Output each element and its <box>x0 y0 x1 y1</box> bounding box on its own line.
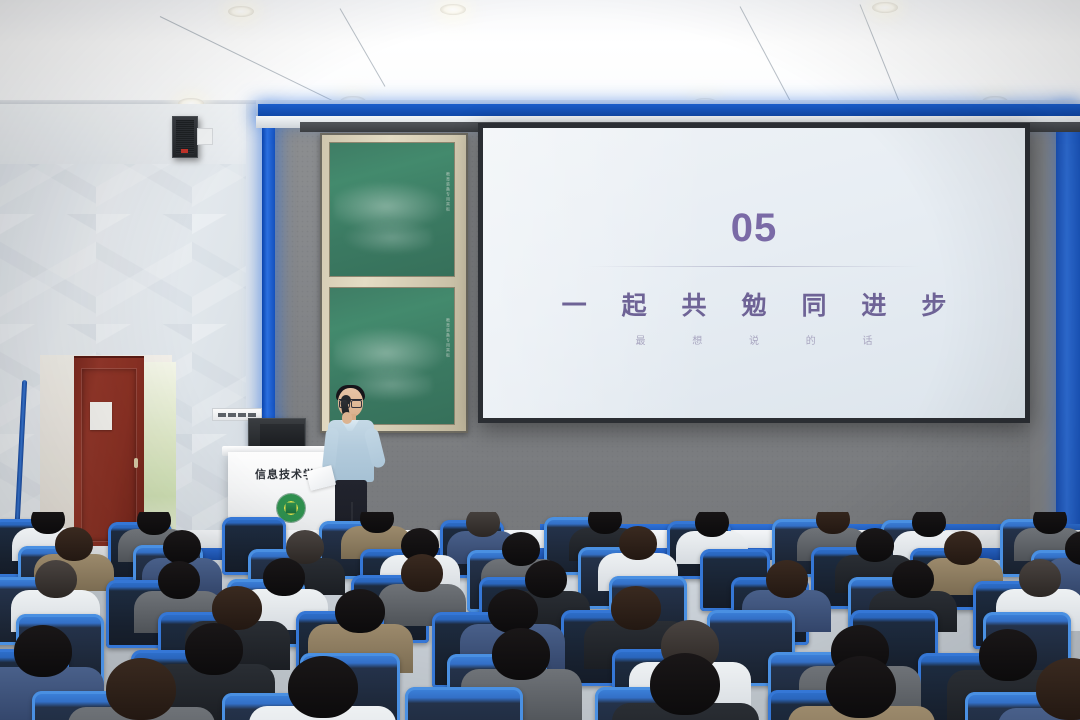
audience-member-head <box>619 526 657 560</box>
chalkboard-edge-text: 教育装备专用黑板 <box>445 172 451 212</box>
right-led-strip <box>1056 104 1080 554</box>
audience-member-head <box>401 554 443 592</box>
audience-member-head <box>488 589 538 633</box>
audience-member-head <box>158 561 200 599</box>
audience-member-head <box>288 656 358 718</box>
audience-member-head <box>466 512 500 537</box>
slide-title: 一 起 共 勉 同 进 步 <box>483 286 1025 322</box>
audience-member-head <box>588 512 622 534</box>
chalk-smudge <box>342 220 431 255</box>
audience-member-head <box>611 586 661 630</box>
audience-member-head <box>856 528 894 562</box>
slide-number: 05 <box>483 206 1025 251</box>
audience-seat <box>405 687 523 720</box>
audience-member-head <box>1019 559 1061 597</box>
ceiling-seam <box>340 8 386 86</box>
audience-member-head <box>185 623 243 675</box>
audience-member-head <box>525 560 567 598</box>
door-sign <box>90 402 112 430</box>
door-handle[interactable] <box>134 458 138 468</box>
ceiling-cove-led <box>258 104 1080 116</box>
ceiling-seam <box>160 16 340 105</box>
ceiling-downlight <box>228 6 254 17</box>
audience-member-head <box>892 560 934 598</box>
switch-key[interactable] <box>238 413 246 417</box>
audience-member-head <box>106 658 176 720</box>
lecture-hall-photo: 教育装备专用黑板 教育装备专用黑板 05 一 起 共 勉 同 进 步 最 想 说… <box>0 0 1080 720</box>
audience-member-head <box>979 629 1037 681</box>
slide-subtitle: 最 想 说 的 话 <box>483 332 1025 347</box>
audience-member-head <box>912 512 946 537</box>
slide-divider <box>588 266 920 267</box>
audience-member-head <box>14 625 72 677</box>
right-wall-column <box>1030 104 1056 554</box>
audience-member-head <box>35 560 77 598</box>
audience-member-head <box>31 512 65 534</box>
audience-member-head <box>335 589 385 633</box>
chalkboard-panel-top: 教育装备专用黑板 <box>329 142 455 277</box>
presenter-hand <box>342 412 352 424</box>
switch-key[interactable] <box>228 413 236 417</box>
chalkboard-edge-text: 教育装备专用黑板 <box>445 318 451 358</box>
wall-outlet-plate <box>197 128 213 145</box>
switch-key[interactable] <box>218 413 226 417</box>
ceiling-downlight <box>440 4 466 15</box>
audience-member-head <box>55 527 93 561</box>
ceiling-downlight <box>872 2 898 13</box>
audience-member-head <box>502 532 540 566</box>
audience-area <box>0 512 1080 720</box>
audience-member-head <box>492 628 550 680</box>
projection-screen: 05 一 起 共 勉 同 进 步 最 想 说 的 话 <box>483 128 1025 418</box>
audience-member-head <box>826 656 896 718</box>
audience-member-head <box>163 530 201 564</box>
audience-member-head <box>137 512 171 535</box>
ceiling <box>0 0 1080 108</box>
audience-member-head <box>263 558 305 596</box>
switch-key[interactable] <box>248 413 256 417</box>
audience-member-head <box>695 512 729 537</box>
screen-glare <box>483 128 839 418</box>
audience-member-head <box>650 653 720 715</box>
left-led-strip <box>262 112 275 442</box>
audience-member-head <box>944 531 982 565</box>
audience-member-head <box>766 560 808 598</box>
projection-screen-frame: 05 一 起 共 勉 同 进 步 最 想 说 的 话 <box>478 123 1030 423</box>
audience-member-head <box>816 512 850 534</box>
wall-speaker-icon <box>172 116 198 158</box>
speaker-logo <box>181 149 188 153</box>
audience-member-head <box>360 512 394 533</box>
upper-wall <box>0 104 252 164</box>
